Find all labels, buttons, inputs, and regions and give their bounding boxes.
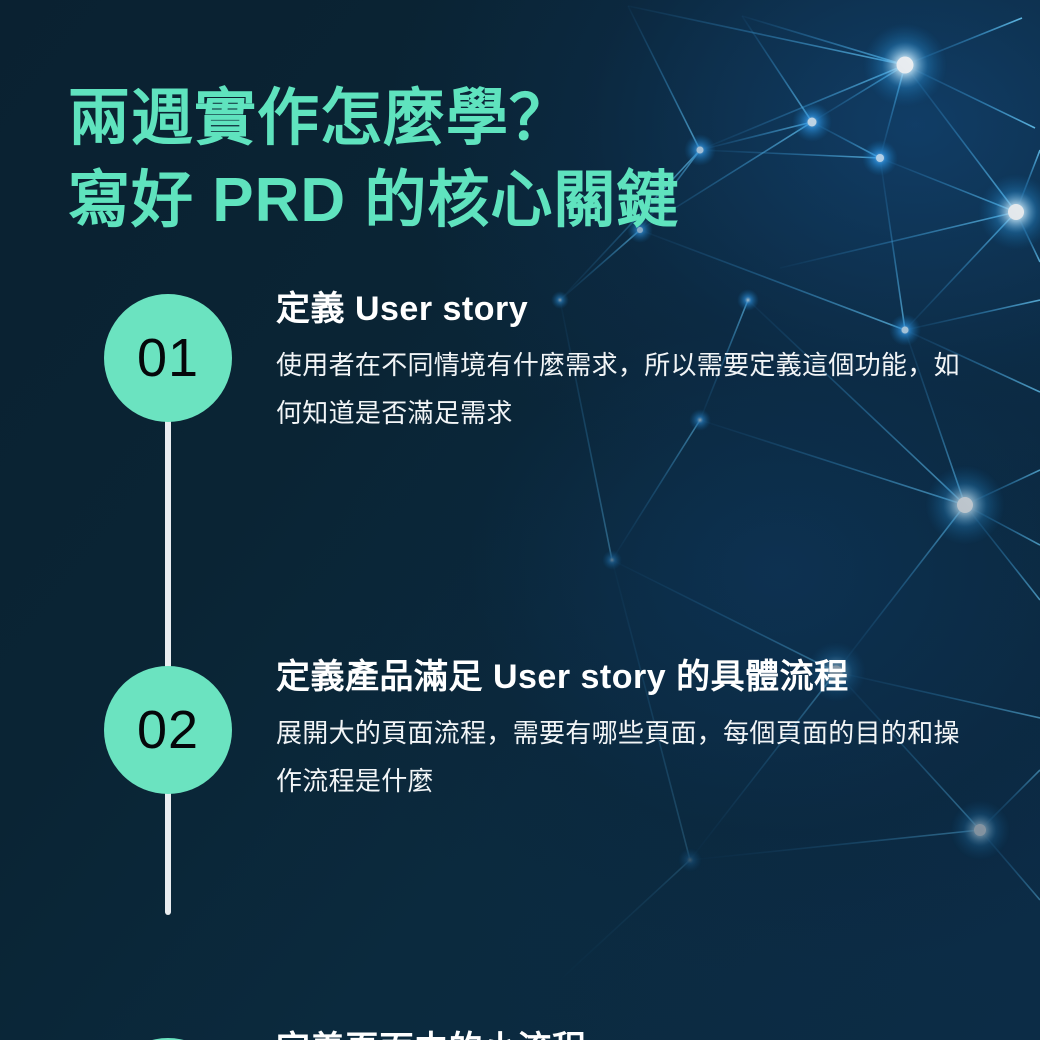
step-badge-02: 02 — [104, 666, 232, 794]
step-badge-01: 01 — [104, 294, 232, 422]
step-number: 01 — [137, 331, 199, 385]
title-line-2: 寫好 PRD 的核心關鍵 — [68, 160, 928, 242]
step-number: 02 — [137, 703, 199, 757]
step-heading: 定義 User story — [276, 288, 976, 331]
step-content-01: 定義 User story 使用者在不同情境有什麼需求，所以需要定義這個功能，如… — [276, 288, 976, 438]
list-item: 02 定義產品滿足 User story 的具體流程 展開大的頁面流程，需要有哪… — [0, 472, 1040, 658]
list-item: 01 定義 User story 使用者在不同情境有什麼需求，所以需要定義這個功… — [0, 286, 1040, 472]
list-item: 04 清楚定義行為「規格」 定義 input > process > outpu… — [0, 844, 1040, 1030]
poster-canvas: 兩週實作怎麼學？ 寫好 PRD 的核心關鍵 01 定義 User story 使… — [0, 0, 1040, 1040]
title-line-1: 兩週實作怎麼學？ — [68, 78, 928, 160]
steps-list: 01 定義 User story 使用者在不同情境有什麼需求，所以需要定義這個功… — [0, 286, 1040, 1030]
page-title: 兩週實作怎麼學？ 寫好 PRD 的核心關鍵 — [68, 78, 928, 242]
step-description: 使用者在不同情境有什麼需求，所以需要定義這個功能，如何知道是否滿足需求 — [276, 341, 976, 439]
